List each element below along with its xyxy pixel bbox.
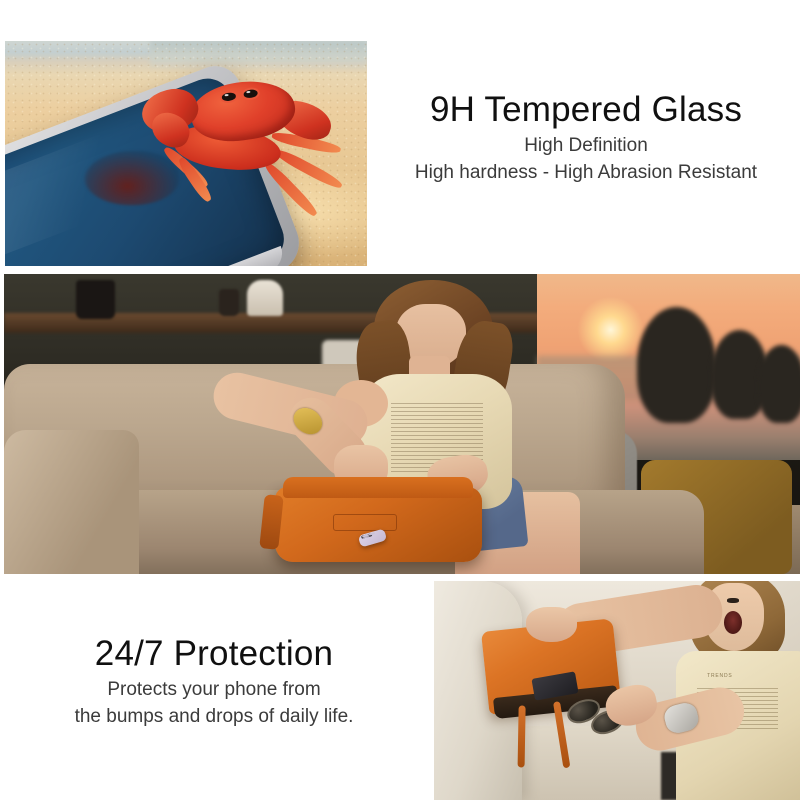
handbag-strap bbox=[259, 494, 283, 550]
phone-entering-bag bbox=[358, 529, 387, 548]
handbag-opening bbox=[283, 477, 473, 498]
tree-silhouette bbox=[758, 345, 800, 423]
glass-subline-2: High hardness - High Abrasion Resistant bbox=[372, 159, 800, 186]
shelf-vase bbox=[219, 289, 239, 316]
tree-silhouette bbox=[637, 307, 716, 422]
shirt-text: TRENDS bbox=[707, 673, 732, 679]
crab bbox=[128, 59, 360, 221]
handbag-sofa-photo bbox=[4, 274, 800, 574]
camera-lens-icon bbox=[363, 536, 370, 539]
sofa-armrest bbox=[4, 430, 139, 574]
glass-text-block: 9H Tempered Glass High Definition High h… bbox=[372, 88, 800, 186]
marketing-infographic: 9H Tempered Glass High Definition High h… bbox=[0, 0, 800, 800]
woman-eye bbox=[727, 598, 739, 603]
camera-lens-icon bbox=[369, 533, 376, 536]
glass-headline: 9H Tempered Glass bbox=[372, 88, 800, 132]
crab-phone-photo bbox=[5, 41, 367, 266]
woman-hand-upper bbox=[526, 607, 577, 642]
protection-text-block: 24/7 Protection Protects your phone from… bbox=[0, 632, 428, 730]
glass-subline-1: High Definition bbox=[372, 132, 800, 159]
protection-headline: 24/7 Protection bbox=[0, 632, 428, 676]
crab-eye bbox=[241, 86, 260, 100]
shelf-lamp bbox=[247, 280, 283, 316]
crab-eye bbox=[219, 89, 238, 103]
open-mouth bbox=[724, 611, 742, 634]
handbag-tag bbox=[333, 514, 397, 531]
orange-handbag bbox=[275, 487, 482, 562]
protection-subline-1: Protects your phone from bbox=[0, 676, 428, 703]
shocked-woman-photo: TRENDS bbox=[434, 581, 800, 800]
protection-subline-2: the bumps and drops of daily life. bbox=[0, 703, 428, 730]
shelf-vase bbox=[76, 280, 116, 319]
